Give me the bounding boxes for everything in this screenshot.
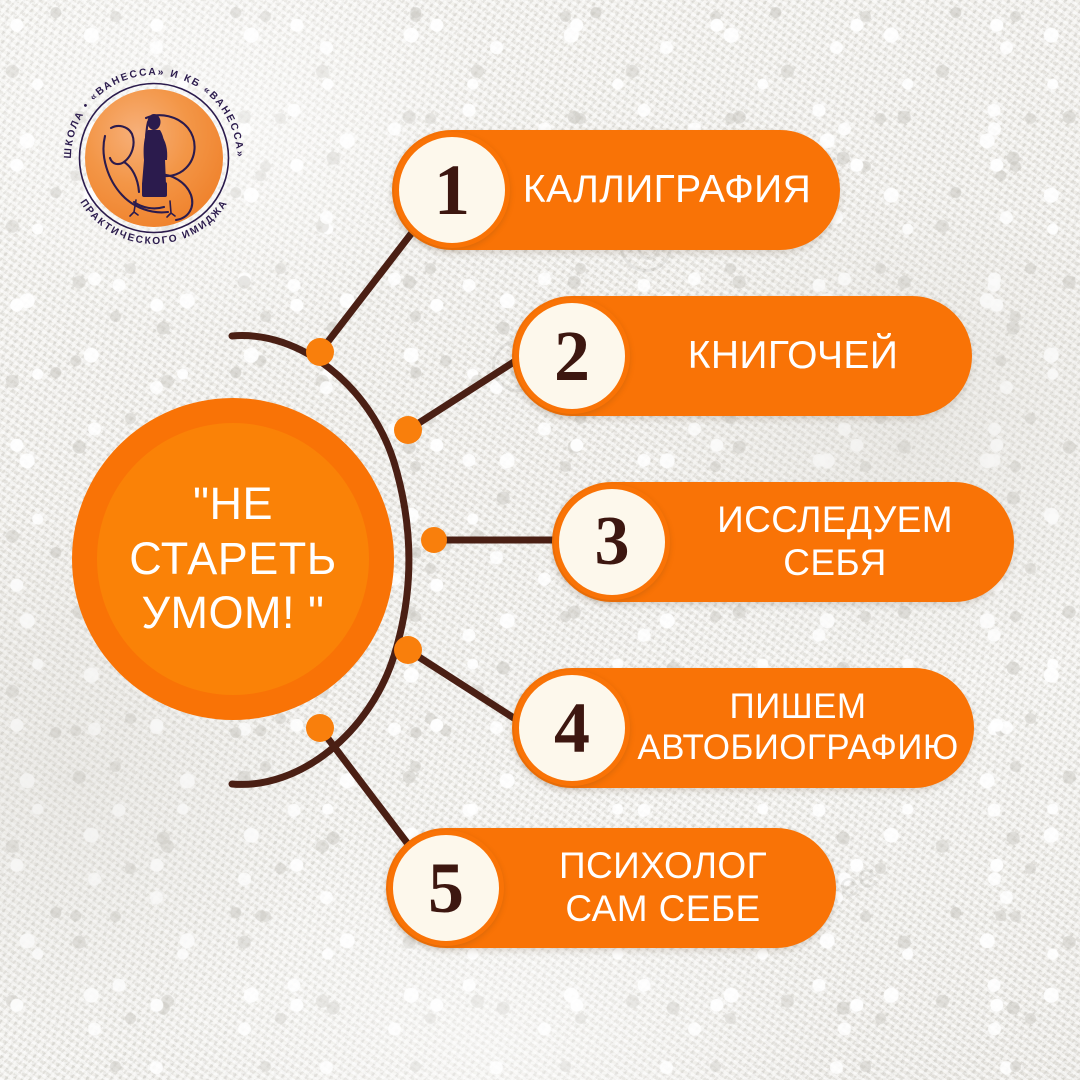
step-2-number-badge: 2 (514, 298, 630, 414)
infographic-canvas: pngtree pngtree pngtree pngtree (0, 0, 1080, 1080)
central-hub: "НЕ СТАРЕТЬ УМОМ! " (72, 398, 394, 720)
central-hub-label: "НЕ СТАРЕТЬ УМОМ! " (129, 477, 337, 642)
step-2-number: 2 (554, 320, 590, 392)
vanessa-school-logo: ШКОЛА • «ВАНЕССА» И КБ «ВАНЕССА» ПРАКТИЧ… (48, 52, 260, 264)
step-5-number: 5 (428, 852, 464, 924)
step-1-number-badge: 1 (394, 132, 510, 248)
step-3-number: 3 (595, 507, 630, 577)
step-4-number-badge: 4 (514, 670, 630, 786)
central-hub-inner-disc: "НЕ СТАРЕТЬ УМОМ! " (97, 423, 369, 695)
step-4-number: 4 (554, 692, 590, 764)
step-3-number-badge: 3 (554, 484, 670, 600)
step-1-number: 1 (434, 154, 470, 226)
step-5-number-badge: 5 (388, 830, 504, 946)
